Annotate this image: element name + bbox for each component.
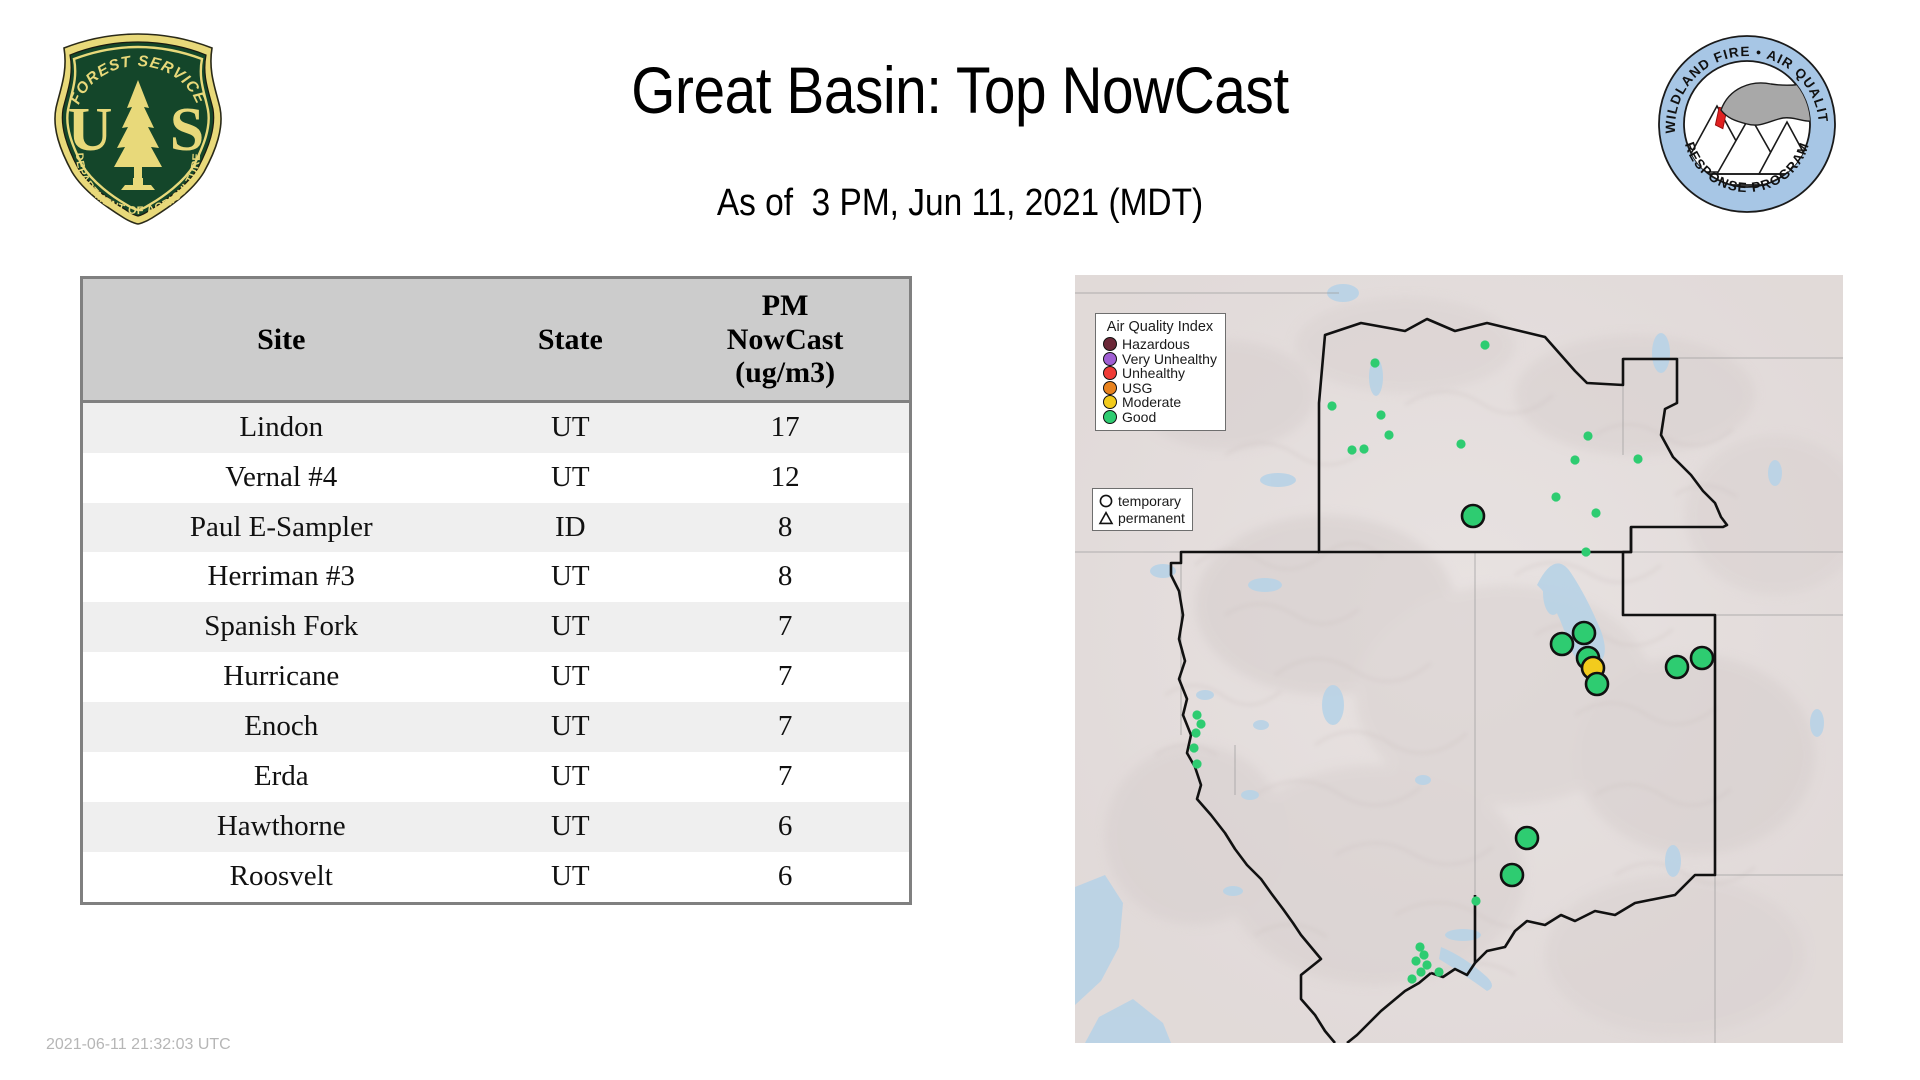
site-name: Roosvelt	[83, 852, 479, 902]
monitor-dot[interactable]	[1370, 358, 1379, 367]
aqi-legend-row: Very Unhealthy	[1103, 352, 1217, 367]
monitor-marker[interactable]	[1516, 827, 1538, 849]
site-name: Paul E-Sampler	[83, 503, 479, 553]
page-subtitle: As of 3 PM, Jun 11, 2021 (MDT)	[115, 182, 1805, 225]
monitor-dot[interactable]	[1633, 454, 1642, 463]
aqi-legend-title: Air Quality Index	[1103, 319, 1217, 335]
monitor-dot[interactable]	[1434, 967, 1443, 976]
table-row: EnochUT7	[83, 702, 909, 752]
monitor-marker[interactable]	[1691, 647, 1713, 669]
monitor-dot[interactable]	[1327, 401, 1336, 410]
site-pm-value: 7	[661, 702, 909, 752]
monitor-dot[interactable]	[1581, 547, 1590, 556]
monitor-dot[interactable]	[1471, 896, 1480, 905]
site-name: Lindon	[83, 401, 479, 452]
aqi-legend-row: Good	[1103, 410, 1217, 425]
monitor-dot[interactable]	[1376, 410, 1385, 419]
monitor-dot[interactable]	[1189, 743, 1198, 752]
aqi-legend: Air Quality Index HazardousVery Unhealth…	[1095, 313, 1226, 431]
monitor-dot[interactable]	[1456, 439, 1465, 448]
site-state: UT	[479, 453, 661, 503]
monitor-dot[interactable]	[1570, 455, 1579, 464]
site-pm-value: 7	[661, 752, 909, 802]
monitor-dot[interactable]	[1480, 340, 1489, 349]
aqi-swatch-icon	[1103, 381, 1117, 395]
aqi-swatch-icon	[1103, 410, 1117, 424]
site-pm-value: 12	[661, 453, 909, 503]
monitor-marker[interactable]	[1501, 864, 1523, 886]
aqi-legend-label: Good	[1122, 409, 1156, 425]
site-name: Vernal #4	[83, 453, 479, 503]
column-header-site: Site	[83, 279, 479, 401]
air-quality-map[interactable]: Air Quality Index HazardousVery Unhealth…	[1075, 275, 1843, 1043]
site-name: Enoch	[83, 702, 479, 752]
table-row: HawthorneUT6	[83, 802, 909, 852]
site-state: UT	[479, 802, 661, 852]
site-state: UT	[479, 602, 661, 652]
site-pm-value: 7	[661, 602, 909, 652]
table-row: Vernal #4UT12	[83, 453, 909, 503]
monitor-marker[interactable]	[1573, 622, 1595, 644]
monitor-dot[interactable]	[1419, 950, 1428, 959]
monitor-dot[interactable]	[1591, 508, 1600, 517]
table-row: Paul E-SamplerID8	[83, 503, 909, 553]
site-state: UT	[479, 552, 661, 602]
monitor-dot[interactable]	[1384, 430, 1393, 439]
aqi-swatch-icon	[1103, 337, 1117, 351]
site-pm-value: 8	[661, 503, 909, 553]
monitor-dot[interactable]	[1192, 710, 1201, 719]
site-name: Herriman #3	[83, 552, 479, 602]
aqi-legend-row: Moderate	[1103, 395, 1217, 410]
site-pm-value: 17	[661, 401, 909, 452]
monitor-dot[interactable]	[1407, 974, 1416, 983]
monitor-marker[interactable]	[1666, 656, 1688, 678]
site-pm-value: 8	[661, 552, 909, 602]
column-header-state: State	[479, 279, 661, 401]
site-name: Erda	[83, 752, 479, 802]
monitor-dot[interactable]	[1192, 759, 1201, 768]
top-nowcast-table: Site State PM NowCast (ug/m3) LindonUT17…	[80, 276, 912, 905]
monitor-marker[interactable]	[1462, 505, 1484, 527]
table-row: RoosveltUT6	[83, 852, 909, 902]
monitor-dot[interactable]	[1422, 960, 1431, 969]
monitor-dot[interactable]	[1196, 719, 1205, 728]
table-row: HurricaneUT7	[83, 652, 909, 702]
site-pm-value: 6	[661, 852, 909, 902]
monitor-dot[interactable]	[1359, 444, 1368, 453]
aqi-legend-row: Hazardous	[1103, 337, 1217, 352]
wfaqrp-logo: WILDLAND FIRE • AIR QUALITY RESPONSE PRO…	[1655, 32, 1839, 216]
monitor-dot[interactable]	[1416, 967, 1425, 976]
aqi-legend-row: Unhealthy	[1103, 366, 1217, 381]
aqi-swatch-icon	[1103, 366, 1117, 380]
monitor-dot[interactable]	[1411, 956, 1420, 965]
table-row: Herriman #3UT8	[83, 552, 909, 602]
site-name: Spanish Fork	[83, 602, 479, 652]
legend-label-temporary: temporary	[1118, 493, 1181, 509]
aqi-legend-row: USG	[1103, 381, 1217, 396]
legend-row-permanent: permanent	[1098, 509, 1185, 526]
table-row: Spanish ForkUT7	[83, 602, 909, 652]
monitor-marker[interactable]	[1551, 633, 1573, 655]
monitor-dot[interactable]	[1191, 728, 1200, 737]
triangle-marker-icon	[1098, 510, 1114, 526]
page-title: Great Basin: Top NowCast	[134, 52, 1785, 128]
monitor-dot[interactable]	[1347, 445, 1356, 454]
site-name: Hawthorne	[83, 802, 479, 852]
circle-marker-icon	[1098, 493, 1114, 509]
site-pm-value: 7	[661, 652, 909, 702]
table-row: ErdaUT7	[83, 752, 909, 802]
aqi-swatch-icon	[1103, 395, 1117, 409]
table-row: LindonUT17	[83, 401, 909, 452]
monitor-dot[interactable]	[1551, 492, 1560, 501]
monitor-dot[interactable]	[1583, 431, 1592, 440]
site-state: UT	[479, 702, 661, 752]
site-state: UT	[479, 401, 661, 452]
forest-service-logo: FOREST SERVICE U S DEPARTMENT OF AGRICUL…	[48, 28, 228, 228]
site-pm-value: 6	[661, 802, 909, 852]
site-name: Hurricane	[83, 652, 479, 702]
site-state: UT	[479, 852, 661, 902]
legend-row-temporary: temporary	[1098, 492, 1185, 509]
site-state: ID	[479, 503, 661, 553]
table-header-row: Site State PM NowCast (ug/m3)	[83, 279, 909, 401]
monitor-marker[interactable]	[1586, 673, 1608, 695]
legend-label-permanent: permanent	[1118, 510, 1185, 526]
monitor-dot[interactable]	[1415, 942, 1424, 951]
footer-timestamp: 2021-06-11 21:32:03 UTC	[46, 1036, 231, 1054]
monitor-type-legend: temporary permanent	[1092, 488, 1193, 531]
site-state: UT	[479, 752, 661, 802]
aqi-swatch-icon	[1103, 352, 1117, 366]
column-header-pm-nowcast: PM NowCast (ug/m3)	[661, 279, 909, 401]
site-state: UT	[479, 652, 661, 702]
